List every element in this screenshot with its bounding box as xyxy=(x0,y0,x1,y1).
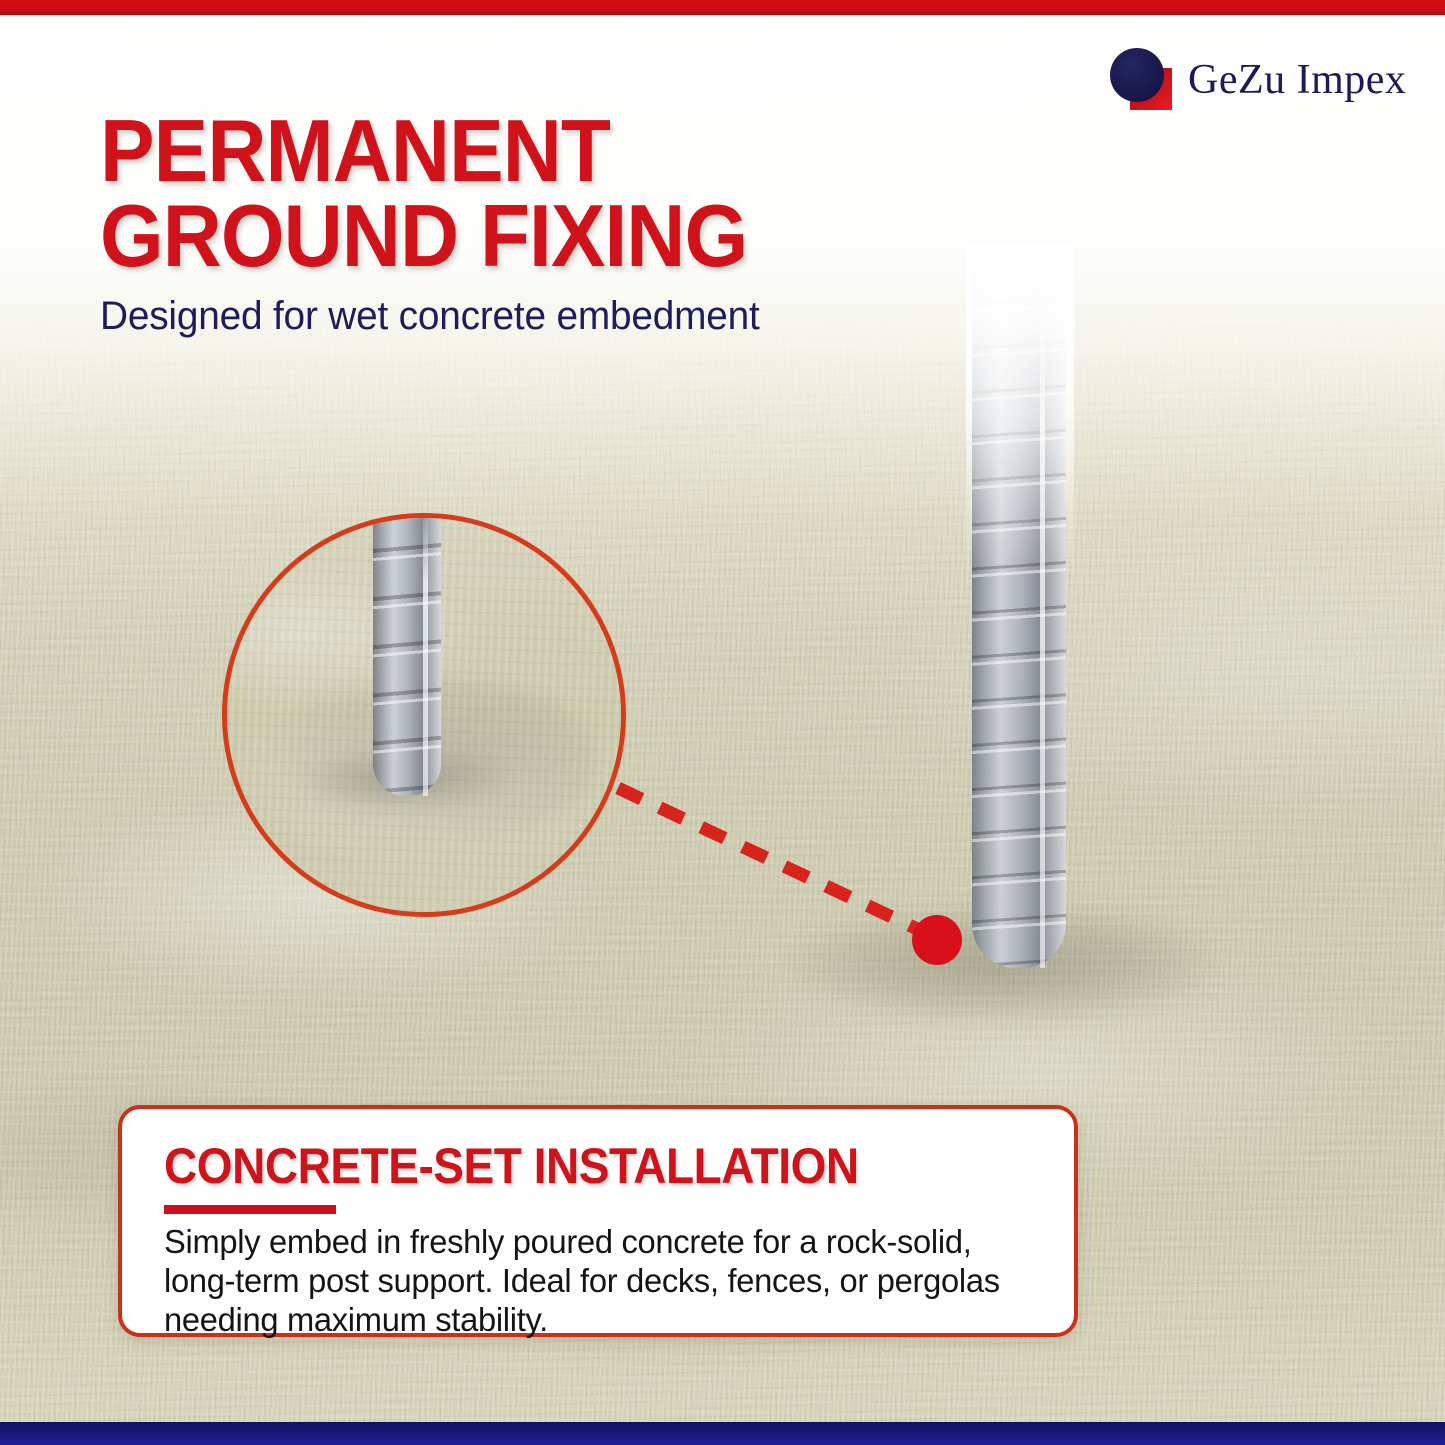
brand-logo: GeZu Impex xyxy=(1108,44,1408,116)
headline-line-1: PERMANENT xyxy=(100,108,937,193)
bottom-accent-bar xyxy=(0,1422,1445,1445)
rod-top-fade xyxy=(966,246,1074,576)
magnified-threaded-rod xyxy=(373,513,441,796)
logo-mark-icon xyxy=(1108,46,1180,114)
threaded-ground-rod xyxy=(972,250,1066,968)
page-title: PERMANENT GROUND FIXING xyxy=(100,108,1000,279)
info-card-title: CONCRETE-SET INSTALLATION xyxy=(164,1141,964,1191)
top-accent-bar xyxy=(0,0,1445,15)
info-card-underline xyxy=(164,1205,336,1214)
magnified-detail-circle xyxy=(222,513,626,917)
magnified-rod-edge-highlight xyxy=(423,513,428,796)
subheadline: Designed for wet concrete embedment xyxy=(100,294,760,339)
info-card: CONCRETE-SET INSTALLATION Simply embed i… xyxy=(118,1105,1078,1337)
info-card-body: Simply embed in freshly poured concrete … xyxy=(164,1224,1012,1341)
logo-wordmark: GeZu Impex xyxy=(1188,56,1406,104)
magnified-rod-highlights xyxy=(373,513,441,796)
infographic-canvas: GeZu Impex PERMANENT GROUND FIXING Desig… xyxy=(0,0,1445,1445)
logo-circle-shape xyxy=(1110,48,1164,102)
headline-line-2: GROUND FIXING xyxy=(100,193,937,278)
